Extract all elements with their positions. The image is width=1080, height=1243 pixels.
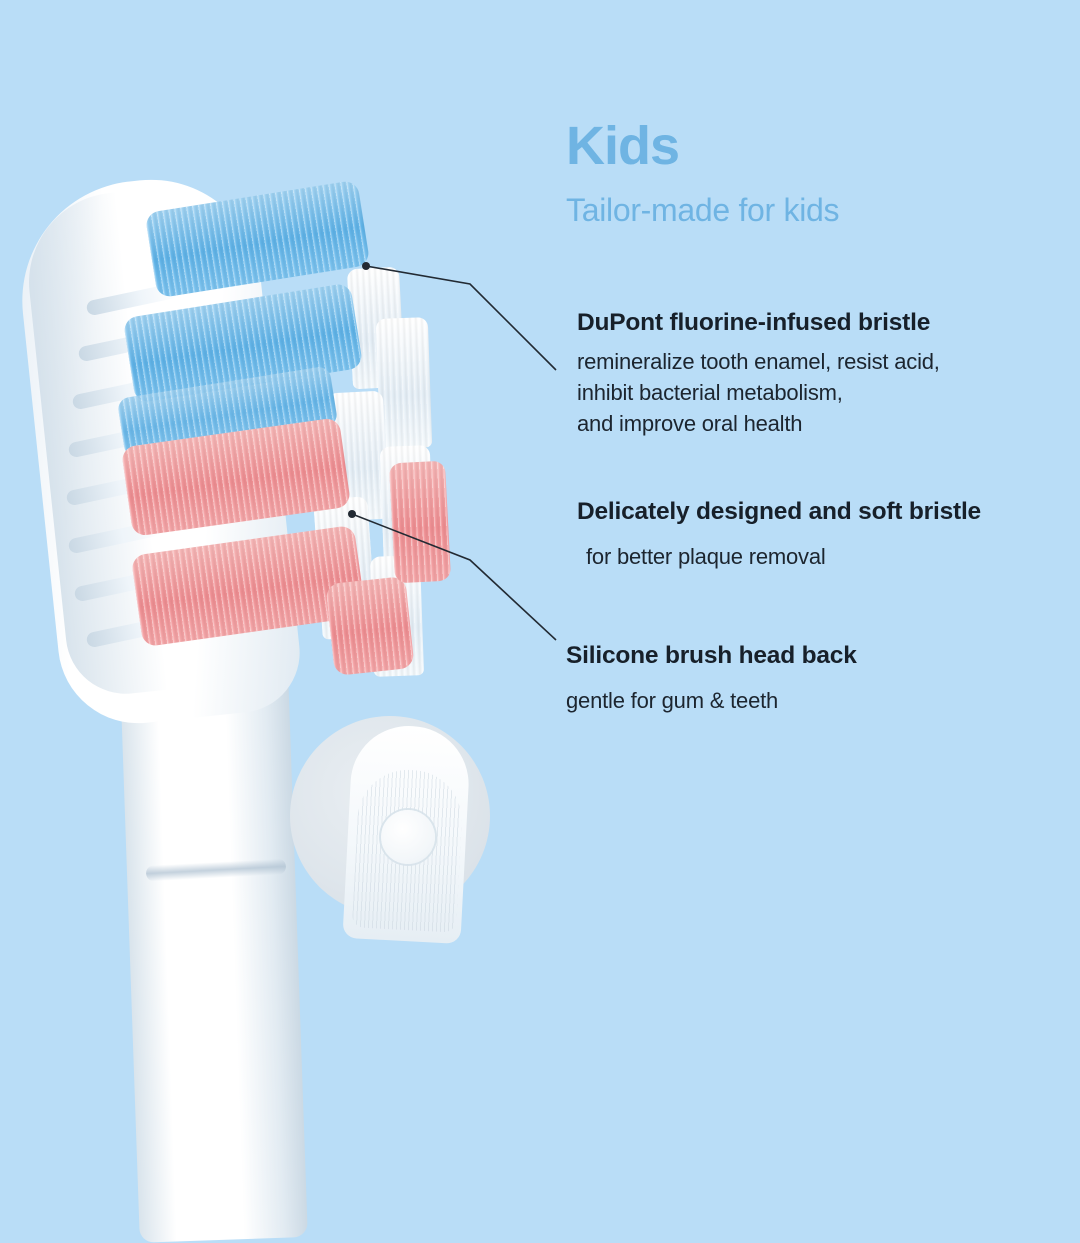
product-photo (0, 0, 520, 1226)
feature-title: Silicone brush head back (566, 639, 1036, 672)
feature-description-line: inhibit bacterial metabolism, (577, 378, 1036, 409)
feature-title: DuPont fluorine-infused bristle (577, 306, 1036, 339)
page-title: Kids (566, 118, 1036, 175)
bristle-tuft-pink (325, 576, 414, 676)
feature-description: remineralize tooth enamel, resist acid, … (577, 347, 1036, 439)
feature-description-line: and improve oral health (577, 409, 1036, 440)
feature-title-line: Delicately designed (577, 498, 802, 525)
page-subtitle: Tailor-made for kids (566, 193, 1036, 228)
feature-title: Delicately designed and soft bristle (577, 495, 1036, 528)
feature-title-line: and soft bristle (809, 498, 981, 525)
feature-description-line: remineralize tooth enamel, resist acid, (577, 347, 1036, 378)
feature-description: gentle for gum & teeth (566, 686, 1036, 717)
feature-text-column: Kids Tailor-made for kids DuPont fluorin… (566, 118, 1036, 761)
bristle-tuft-pink (389, 461, 451, 584)
feature-description: for better plaque removal (577, 542, 1036, 573)
feature-dupont-bristle: DuPont fluorine-infused bristle reminera… (566, 306, 1036, 439)
feature-silicone-back: Silicone brush head back gentle for gum … (566, 639, 1036, 717)
silicone-center-hole (381, 810, 435, 864)
feature-soft-bristle: Delicately designed and soft bristle for… (566, 495, 1036, 573)
